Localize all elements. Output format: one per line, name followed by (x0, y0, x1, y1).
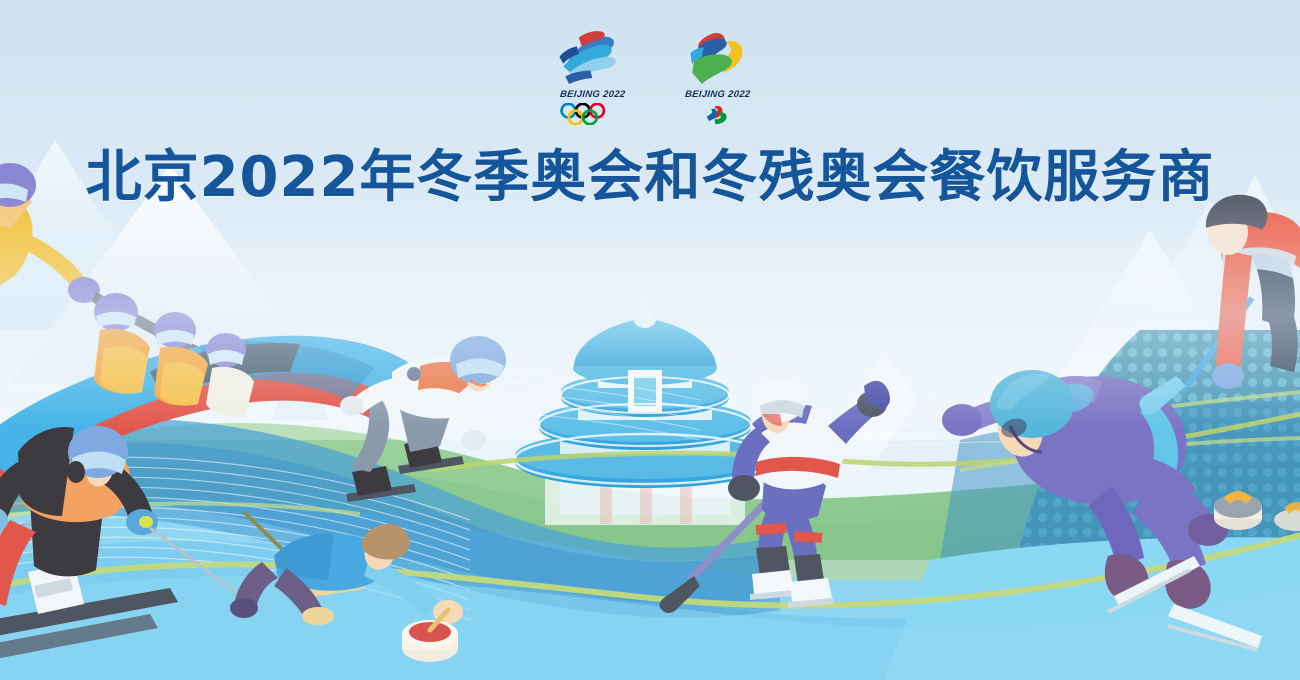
olympic-emblem-mark (544, 28, 641, 86)
beijing-2022-catering-banner: BEIJING 2022 BEIJING 2022 (0, 0, 1300, 680)
olympic-rings-icon (554, 103, 630, 125)
beijing-2022-paralympic-emblem: BEIJING 2022 (670, 28, 765, 125)
paralympic-emblem-mark (669, 28, 766, 86)
paralympic-wordmark: BEIJING 2022 (684, 89, 751, 100)
page-title: 北京2022年冬季奥会和冬残奥会餐饮服务商 (0, 146, 1300, 210)
emblem-group: BEIJING 2022 BEIJING 2022 (540, 28, 770, 140)
beijing-2022-olympic-emblem: BEIJING 2022 (545, 28, 640, 125)
olympic-wordmark: BEIJING 2022 (559, 89, 626, 100)
paralympic-agitos-icon (679, 103, 755, 125)
